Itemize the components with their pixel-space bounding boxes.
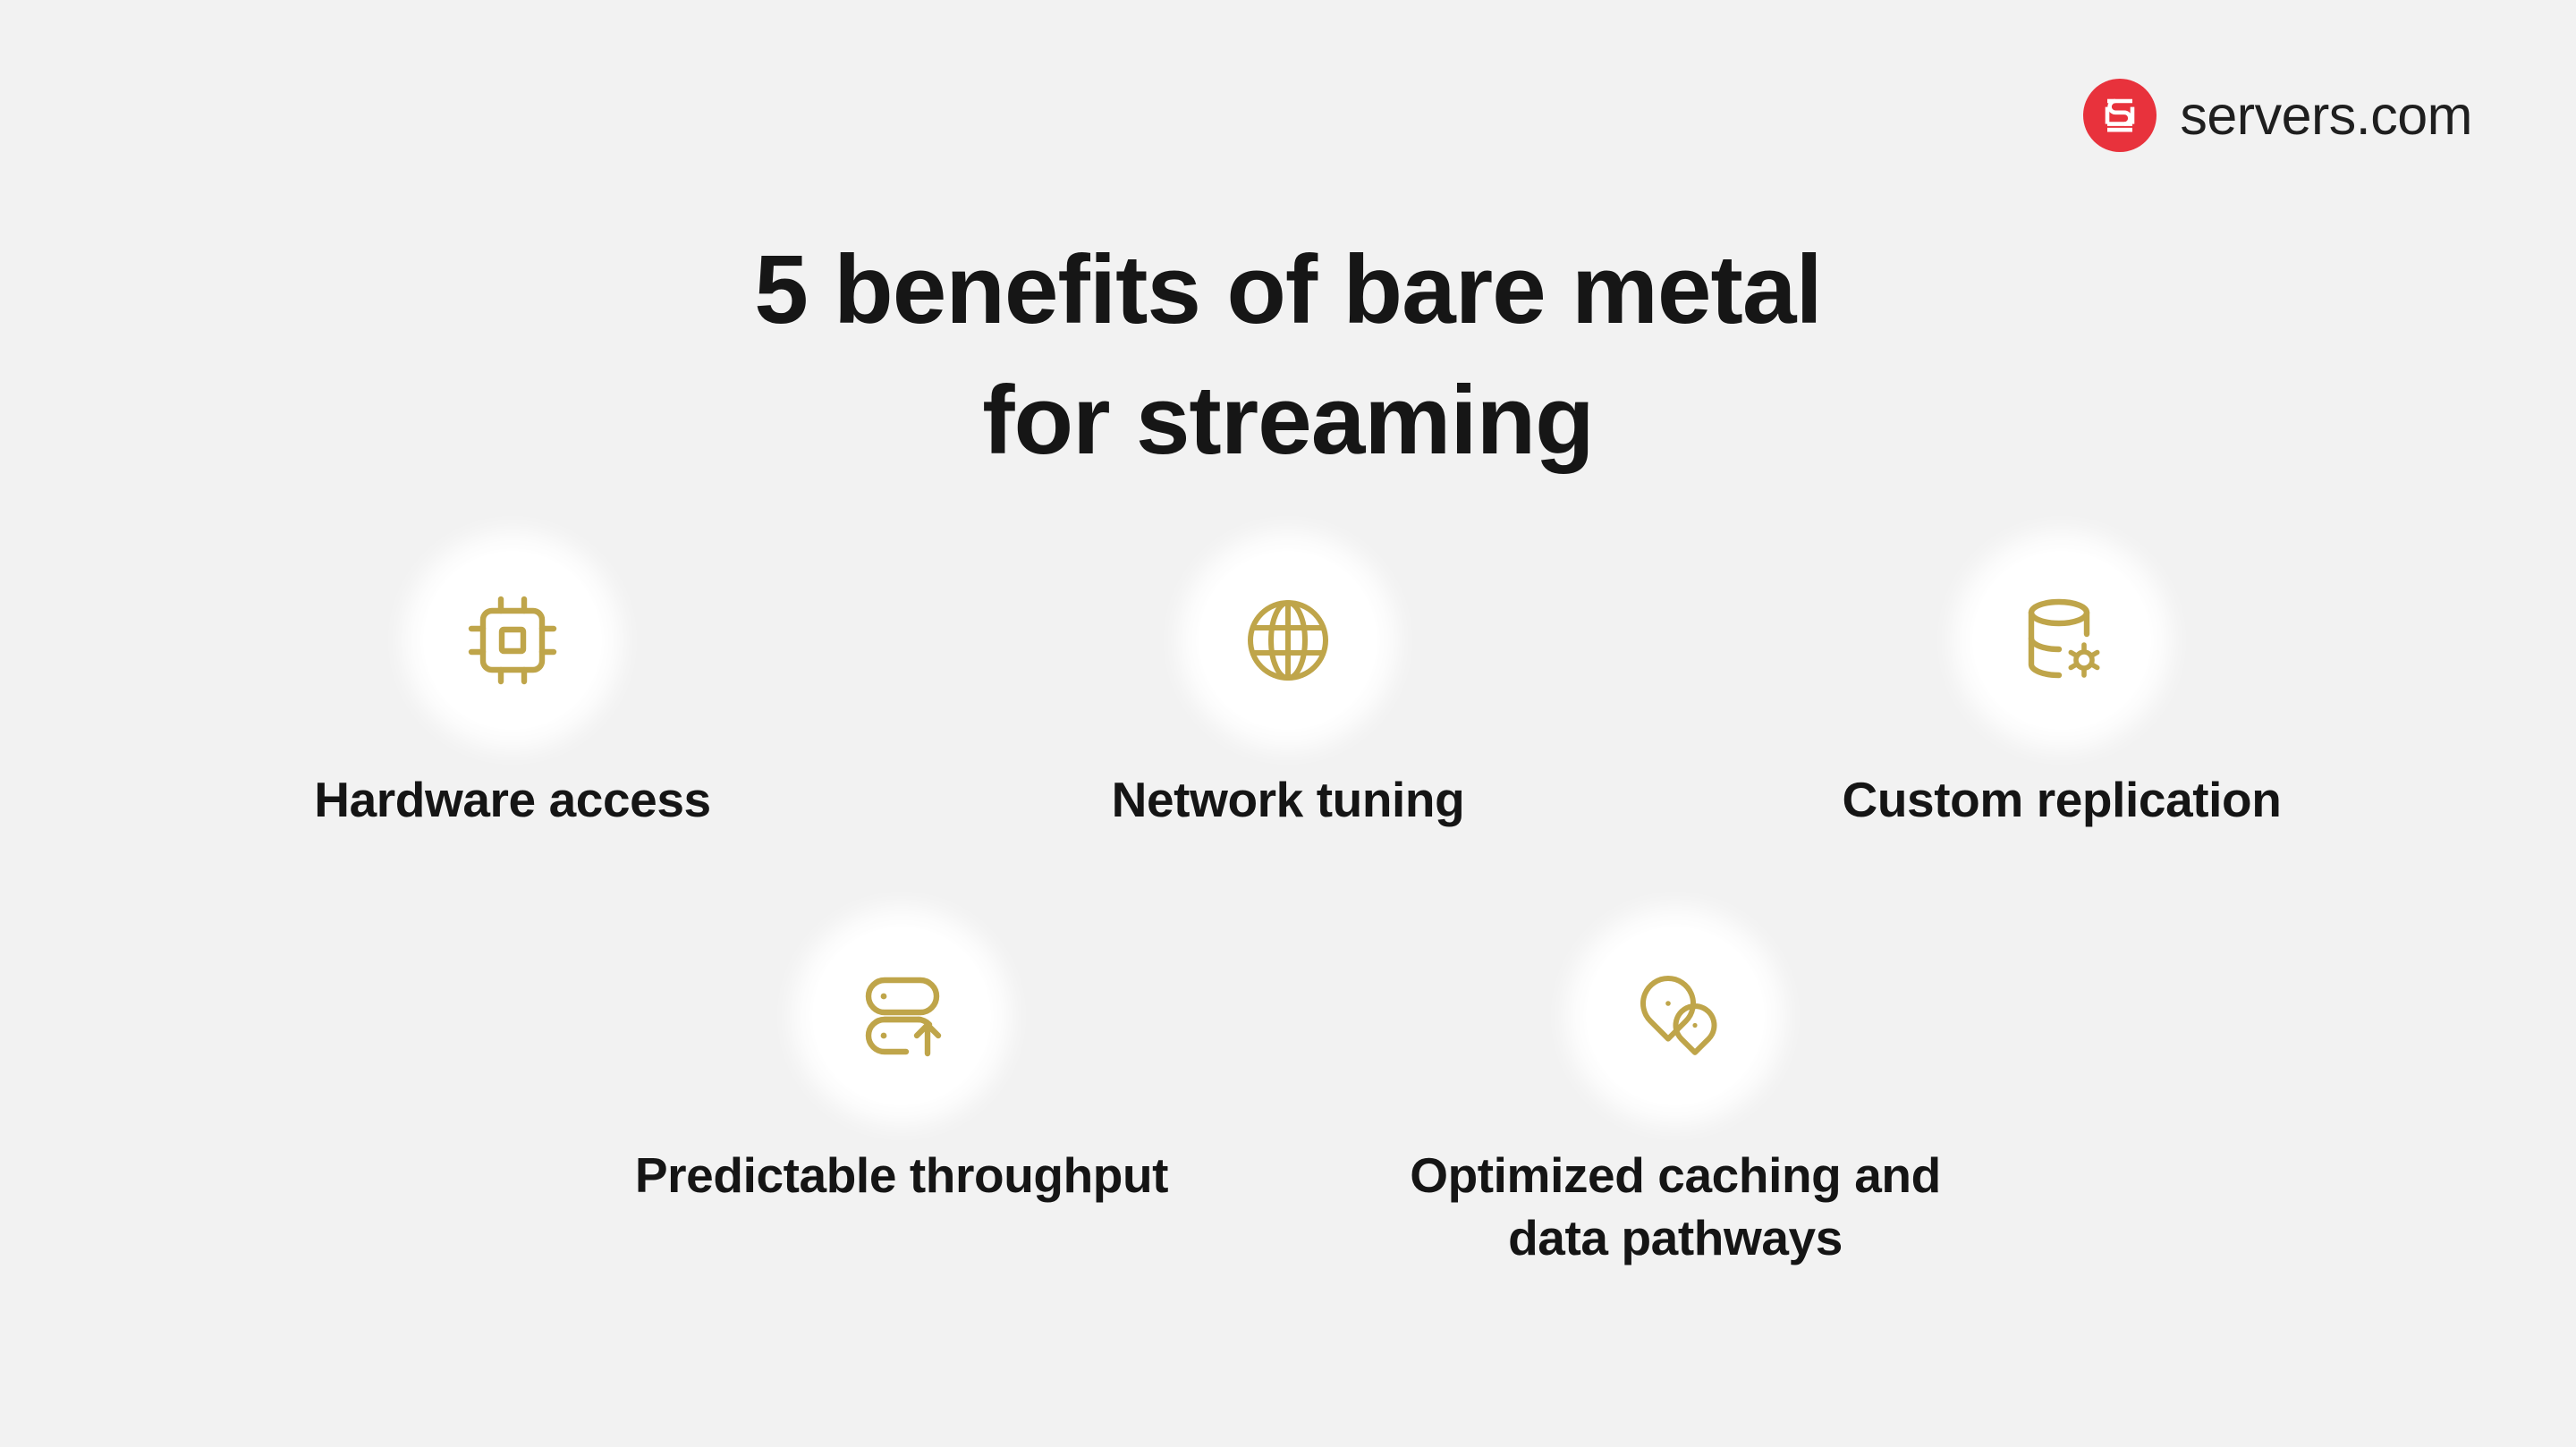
benefit-item-hardware-access: Hardware access	[235, 551, 790, 831]
brand-logo[interactable]: servers.com	[2083, 79, 2472, 152]
benefit-label: Optimized caching and data pathways	[1410, 1144, 1941, 1270]
brand-name: servers.com	[2180, 89, 2472, 143]
page-title: 5 benefits of bare metal for streaming	[0, 224, 2576, 486]
cpu-chip-icon	[423, 551, 602, 730]
benefit-label: Hardware access	[314, 768, 710, 831]
map-pins-icon	[1586, 927, 1765, 1105]
servers-logo-icon	[2083, 79, 2157, 152]
benefit-item-predictable-throughput: Predictable throughput	[624, 927, 1179, 1206]
infographic-canvas: servers.com 5 benefits of bare metal for…	[0, 0, 2576, 1447]
benefit-label: Custom replication	[1843, 768, 2282, 831]
page-title-line-1: 5 benefits of bare metal	[0, 224, 2576, 355]
server-upload-icon	[812, 927, 991, 1105]
globe-icon	[1199, 551, 1377, 730]
benefit-item-network-tuning: Network tuning	[1011, 551, 1565, 831]
benefit-item-optimized-caching: Optimized caching and data pathways	[1398, 927, 1953, 1270]
database-gear-icon	[1972, 551, 2151, 730]
page-title-line-2: for streaming	[0, 355, 2576, 486]
benefit-item-custom-replication: Custom replication	[1784, 551, 2339, 831]
benefit-label: Network tuning	[1112, 768, 1465, 831]
benefit-label: Predictable throughput	[635, 1144, 1168, 1206]
